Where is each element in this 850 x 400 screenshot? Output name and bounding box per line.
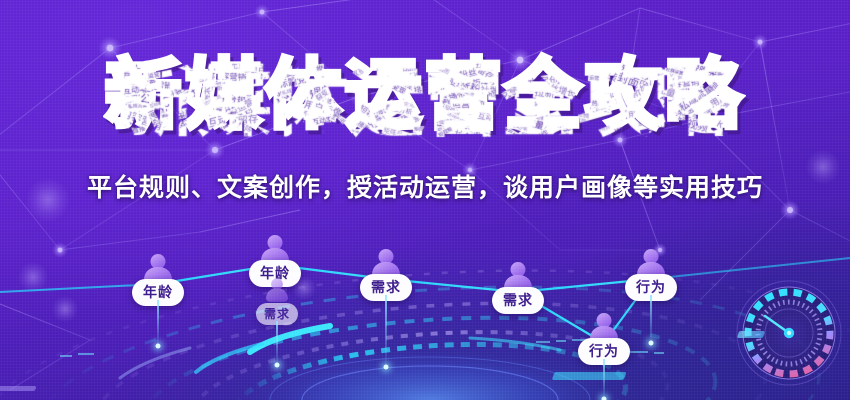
- person-node[interactable]: 行为: [578, 313, 630, 365]
- node-light-beam: [385, 295, 387, 367]
- banner-root: 年龄年龄需求需求需求行为行为 新媒体运营全攻略 平台规则、文案创作，授活动运营，…: [0, 0, 850, 400]
- avatar-body: [266, 288, 288, 301]
- beam-endpoint-dot: [275, 363, 280, 368]
- hud-chip: [737, 331, 765, 338]
- beam-endpoint-dot: [156, 344, 161, 349]
- node-light-beam: [603, 359, 605, 399]
- person-node[interactable]: 年龄: [132, 254, 184, 306]
- beam-endpoint-dot: [649, 341, 654, 346]
- person-node[interactable]: 需求: [256, 275, 298, 325]
- node-light-beam: [157, 300, 159, 346]
- node-label-pill[interactable]: 需求: [492, 287, 544, 314]
- title-wordcloud-texture: [0, 58, 850, 154]
- beam-endpoint-dot: [384, 365, 389, 370]
- person-node[interactable]: 需求: [360, 249, 412, 301]
- node-light-beam: [650, 295, 652, 343]
- beam-endpoint-dot: [602, 397, 607, 400]
- person-avatar-icon: [264, 278, 291, 301]
- page-subtitle: 平台规则、文案创作，授活动运营，谈用户画像等实用技巧: [0, 168, 850, 204]
- node-light-beam: [276, 321, 278, 365]
- title-texture-layer: [0, 58, 850, 154]
- person-node[interactable]: 行为: [625, 249, 677, 301]
- person-node[interactable]: 需求: [492, 262, 544, 314]
